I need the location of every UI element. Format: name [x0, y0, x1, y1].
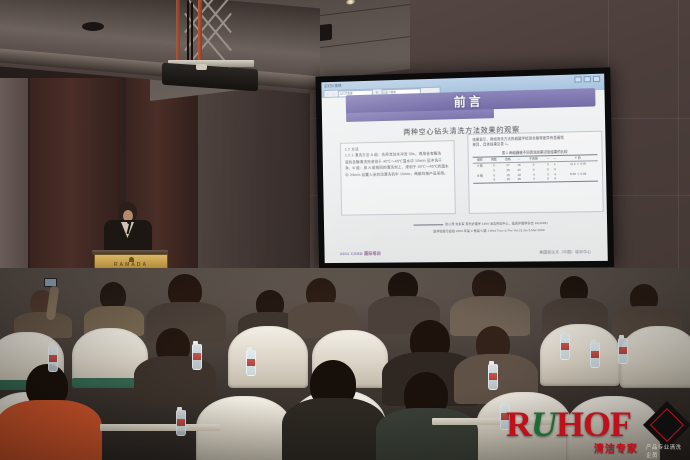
slide-reference-two: 医学检验与检验 2003 年第 3 卷第 5 期 J Med Tuor & Pr… [433, 227, 605, 233]
projector-lens [196, 64, 207, 70]
slide-footer-right: 美国如沃夫（中国）培训中心 [539, 250, 591, 256]
water-bottle [560, 334, 570, 360]
slide-left-line: 中 25min 后置入全自动清洗机中 10min，两组均按产品采用。 [345, 170, 450, 178]
maximize-icon[interactable] [584, 76, 591, 82]
water-bottle [176, 410, 186, 436]
bottle-cap [177, 407, 182, 411]
ruhof-watermark: RUHOF 清洁专家 产品专业清洗企员 [506, 404, 686, 456]
projection-screen: 幻灯片放映 ← → 幻灯片放映 ↻ 自定义放映 [321, 74, 607, 263]
audience-shoulders [134, 356, 216, 404]
projector-mount-pipe [198, 0, 202, 62]
projector-cable [191, 2, 193, 64]
bottle-cap [619, 335, 624, 339]
water-bottle [618, 338, 628, 364]
projector-cable [187, 0, 189, 64]
bottle-cap [193, 341, 198, 345]
microphone-icon [127, 220, 131, 224]
table-cell [559, 176, 598, 182]
water-bottle [246, 350, 256, 376]
table-cell: 4 [523, 177, 544, 183]
presentation-slide: 幻灯片放映 ← → 幻灯片放映 ↻ 自定义放映 [321, 74, 607, 263]
ruhof-letters-hof: HOF [556, 404, 631, 444]
water-bottle [192, 344, 202, 370]
ruhof-tagline: 清洁专家 [594, 440, 638, 455]
table-cell: 6 [487, 177, 501, 183]
close-icon[interactable] [593, 76, 600, 82]
ruhof-letter-u: U [531, 404, 556, 444]
audience-shoulders [0, 400, 102, 460]
table-row: 6 25 25 4 0 0 [473, 176, 598, 184]
bottle-cap [561, 331, 566, 335]
chair-back [228, 326, 308, 388]
water-bottle [488, 364, 498, 390]
table-cell: 25 [501, 177, 515, 183]
reference-rule [414, 224, 444, 225]
bottle-cap [49, 343, 54, 347]
chair-back [620, 326, 690, 388]
slide-right-table-panel: 结果显示，两组清洗方法的细菌学检测合格率差异有显著性 差异，具体结果见表 1。 … [467, 131, 603, 214]
minimize-icon[interactable] [574, 76, 581, 82]
bottle-cap [591, 339, 596, 343]
ruhof-diamond-icon [643, 401, 690, 449]
slide-footer-left-text: 国际培训 [364, 251, 381, 256]
slide-reference-one: 张小萍 刘永军 现代护理学 1999 消毒供应中心，临床护理学杂志 34(200… [445, 220, 608, 226]
projected-window-title: 幻灯片放映 [324, 83, 341, 88]
table-edge [100, 424, 220, 431]
projector-scissor-lift [176, 0, 242, 62]
ceiling-projector [150, 0, 270, 92]
water-bottle [590, 342, 600, 368]
projector-mount-pipe [176, 0, 180, 62]
slide-results-table: 组别 例数 合格 — 不合格 — — F 值 [473, 154, 598, 184]
window-controls[interactable] [574, 76, 600, 83]
ruhof-letter-r: R [506, 404, 531, 444]
hotel-logo-icon [129, 257, 134, 262]
ruhof-subline: 产品专业清洗企员 [646, 443, 686, 459]
ruhof-wordmark: RUHOF [506, 406, 631, 442]
water-bottle [48, 346, 58, 372]
table-cell: 25 [515, 177, 523, 182]
slide-footer-year: 2011 CSSD [340, 251, 363, 256]
bottle-cap [489, 361, 494, 365]
conference-room-photo: 幻灯片放映 ← → 幻灯片放映 ↻ 自定义放映 [0, 0, 690, 460]
table-cell: 0 [552, 176, 559, 181]
forward-icon[interactable]: → [332, 92, 335, 96]
slide-footer-left: 2011 CSSD 国际培训 [340, 251, 381, 257]
projection-screen-frame: 幻灯片放映 ← → 幻灯片放映 ↻ 自定义放映 [315, 67, 614, 269]
back-icon[interactable]: ← [326, 92, 329, 96]
table-cell: 0 [544, 176, 551, 181]
table-cell [473, 178, 487, 184]
audience-shoulders [282, 398, 386, 460]
bottle-cap [247, 347, 252, 351]
audience-shoulders [376, 408, 478, 460]
ceiling-vent [82, 22, 104, 31]
slide-left-text-panel: 1.2 方法 1.2.1 清洗方法 A 组：先用流动水冲洗 30s，再用含有酶洗… [340, 140, 456, 216]
chair-back [540, 324, 620, 386]
